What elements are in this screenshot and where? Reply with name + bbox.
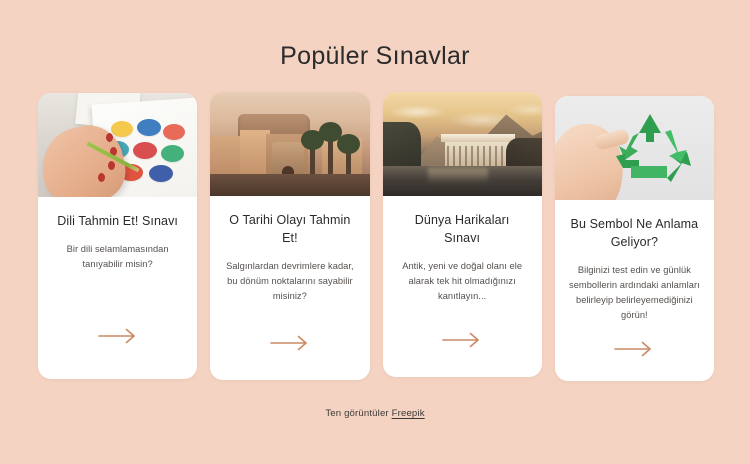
card-title: Dili Tahmin Et! Sınavı [57, 212, 178, 230]
card-description: Antik, yeni ve doğal olanı ele alarak te… [396, 259, 529, 304]
card-arrow-button[interactable] [611, 338, 657, 360]
card-arrow-button[interactable] [439, 329, 485, 351]
quiz-card-list: Dili Tahmin Et! Sınavı Bir dili selamlam… [38, 92, 714, 381]
card-body: Bu Sembol Ne Anlama Geliyor? Bilginizi t… [555, 200, 714, 381]
freepik-link[interactable]: Freepik [392, 408, 425, 419]
card-body: Dili Tahmin Et! Sınavı Bir dili selamlam… [38, 197, 197, 379]
arrow-right-icon [442, 332, 482, 348]
card-description: Salgınlardan devrimlere kadar, bu dönüm … [223, 259, 356, 304]
arrow-right-icon [614, 341, 654, 357]
card-title: Dünya Harikaları Sınavı [396, 211, 529, 247]
roman-forum-photo [210, 92, 369, 196]
quiz-card[interactable]: Dünya Harikaları Sınavı Antik, yeni ve d… [383, 92, 542, 377]
card-title: Bu Sembol Ne Anlama Geliyor? [568, 215, 701, 251]
notebook-sticky-notes-photo [38, 93, 197, 197]
quiz-card[interactable]: Dili Tahmin Et! Sınavı Bir dili selamlam… [38, 93, 197, 379]
recycle-icon [607, 108, 693, 193]
quiz-card[interactable]: O Tarihi Olayı Tahmin Et! Salgınlardan d… [210, 92, 369, 380]
arrow-right-icon [270, 335, 310, 351]
page-title: Popüler Sınavlar [0, 0, 750, 71]
arrow-right-icon [98, 328, 138, 344]
card-description: Bir dili selamlamasından tanıyabilir mis… [51, 242, 184, 272]
card-arrow-button[interactable] [267, 332, 313, 354]
card-body: O Tarihi Olayı Tahmin Et! Salgınlardan d… [210, 196, 369, 380]
image-credit-prefix: Ten görüntüler [325, 408, 388, 419]
quiz-card[interactable]: Bu Sembol Ne Anlama Geliyor? Bilginizi t… [555, 96, 714, 381]
page-root: Popüler Sınavlar Dili Tahmin Et! Sınavı … [0, 0, 750, 464]
image-credit: Ten görüntüler Freepik [0, 408, 750, 419]
card-description: Bilginizi test edin ve günlük sembolleri… [568, 263, 701, 323]
greek-temple-photo [383, 92, 542, 196]
recycling-symbol-photo [555, 96, 714, 200]
card-body: Dünya Harikaları Sınavı Antik, yeni ve d… [383, 196, 542, 377]
card-arrow-button[interactable] [95, 325, 141, 347]
card-title: O Tarihi Olayı Tahmin Et! [223, 211, 356, 247]
